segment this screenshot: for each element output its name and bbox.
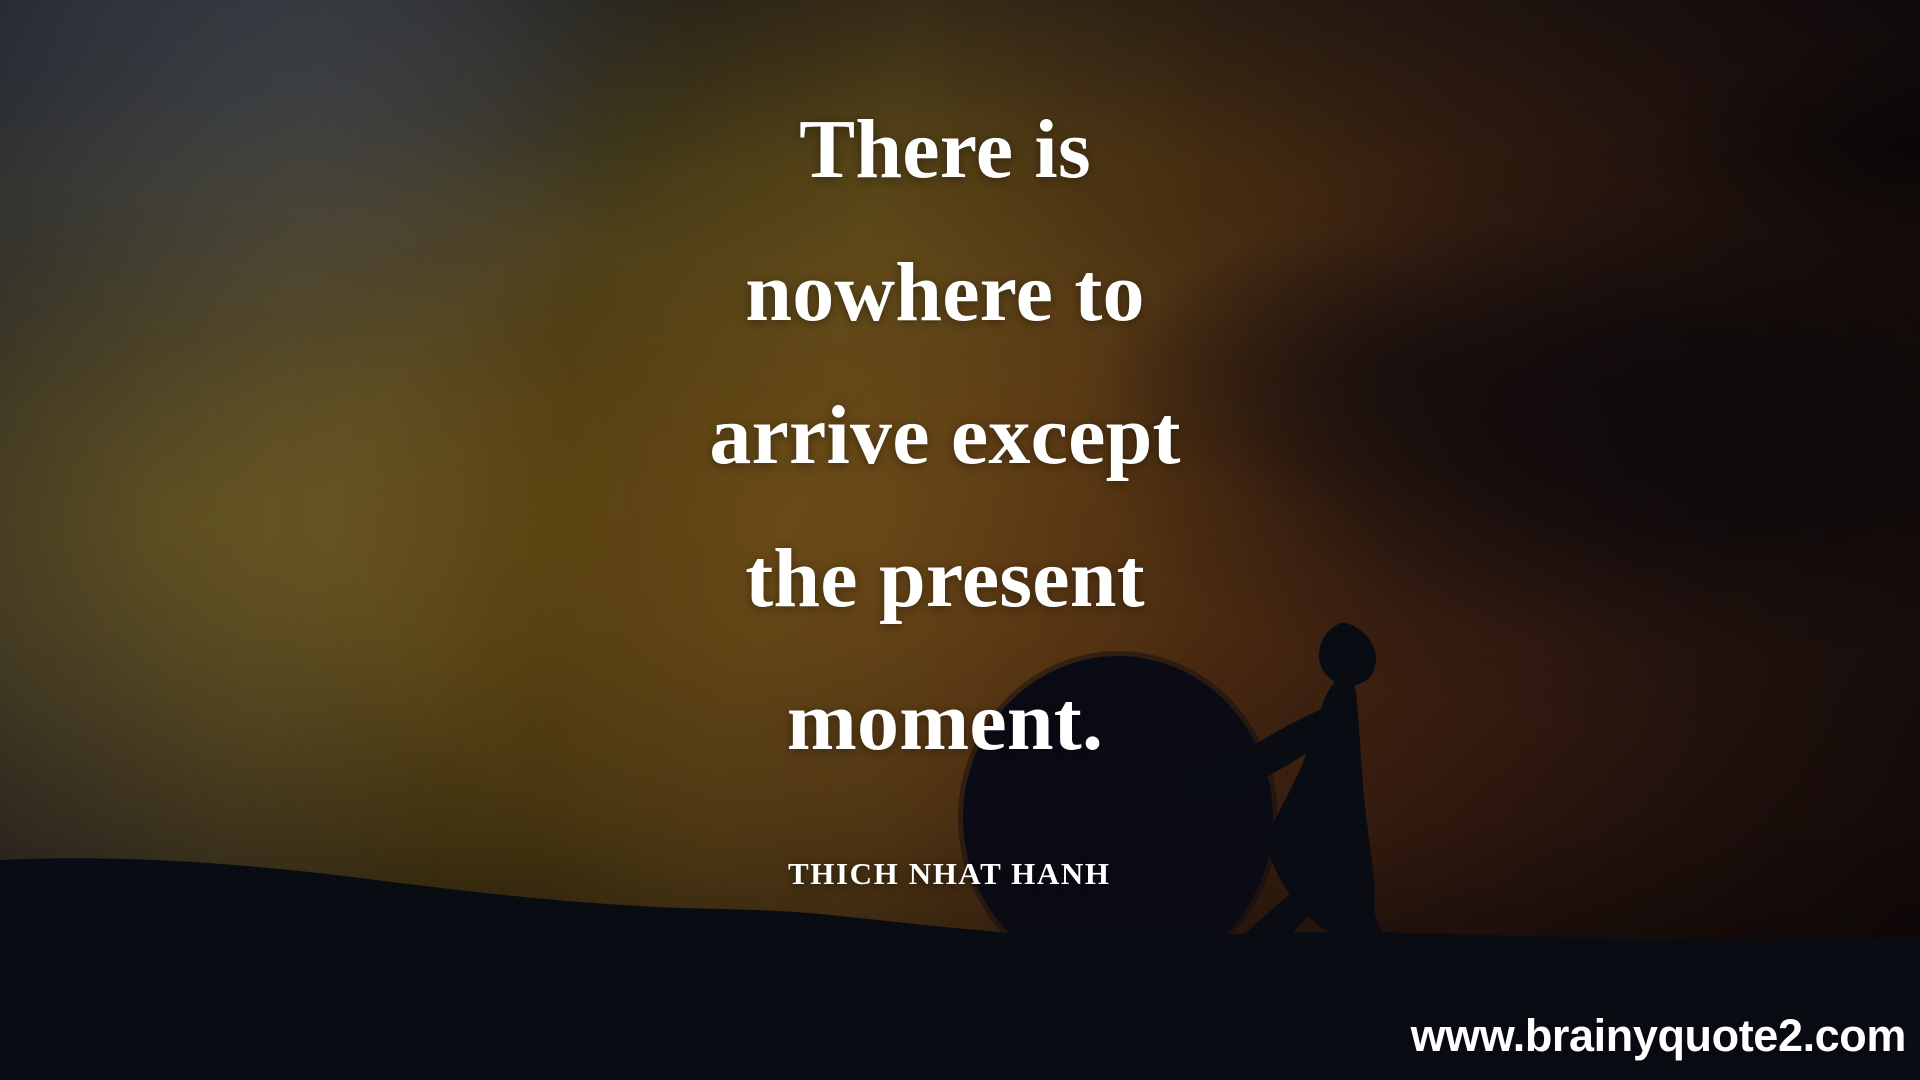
quote-line-5: moment.: [445, 650, 1445, 793]
quote-line-3: arrive except: [445, 364, 1445, 507]
site-watermark: www.brainyquote2.com: [1411, 1010, 1906, 1062]
quote-text-block: There is nowhere to arrive except the pr…: [445, 78, 1445, 793]
quote-card: There is nowhere to arrive except the pr…: [0, 0, 1920, 1080]
quote-line-4: the present: [445, 507, 1445, 650]
quote-line-1: There is: [445, 78, 1445, 221]
quote-line-2: nowhere to: [445, 221, 1445, 364]
quote-attribution: THICH NHAT HANH: [788, 856, 1111, 892]
